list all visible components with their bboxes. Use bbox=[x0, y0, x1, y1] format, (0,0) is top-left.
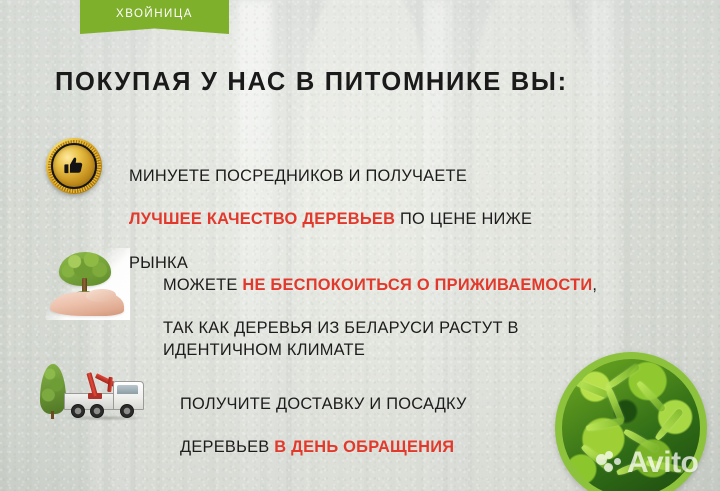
truck-wheel bbox=[71, 404, 85, 418]
benefit-line-plain: ДЕРЕВЬЕВ bbox=[180, 438, 274, 456]
brand-name-label: ХВОЙНИЦА bbox=[116, 0, 193, 21]
page-title: ПОКУПАЯ У НАС В ПИТОМНИКЕ ВЫ: bbox=[55, 70, 568, 96]
thuja-frond bbox=[580, 444, 614, 474]
benefit-line-plain: ПО ЦЕНЕ НИЖЕ bbox=[395, 210, 532, 228]
promo-poster: ХВОЙНИЦА ПОКУПАЯ У НАС В ПИТОМНИКЕ ВЫ: М… bbox=[0, 0, 720, 491]
hand-thumb bbox=[86, 289, 116, 302]
benefit-highlight: ЛУЧШЕЕ КАЧЕСТВО ДЕРЕВЬЕВ bbox=[129, 210, 395, 228]
thuja-frond bbox=[646, 459, 685, 474]
thuja-frond bbox=[623, 428, 659, 453]
benefit-highlight: НЕ БЕСПОКОИТЬСЯ О ПРИЖИВАЕМОСТИ bbox=[242, 276, 592, 294]
benefit-text: ПОЛУЧИТЕ ДОСТАВКУ И ПОСАДКУ ДЕРЕВЬЕВ В Д… bbox=[180, 372, 580, 459]
thuja-circle-photo bbox=[555, 352, 707, 491]
truck-scene bbox=[38, 358, 150, 422]
medal-outer-ring bbox=[46, 138, 102, 194]
thuja-frond bbox=[636, 380, 667, 413]
benefit-row: МОЖЕТЕ НЕ БЕСПОКОИТЬСЯ О ПРИЖИВАЕМОСТИ, … bbox=[46, 248, 663, 362]
thuja-frond bbox=[654, 408, 684, 442]
crane-hook-arm bbox=[107, 377, 113, 392]
crane-truck-with-conifer-icon bbox=[38, 358, 150, 422]
thumbs-up-glyph bbox=[63, 155, 85, 177]
benefit-line-plain: МИНУЕТЕ ПОСРЕДНИКОВ И ПОЛУЧАЕТЕ bbox=[129, 167, 467, 185]
thuja-photo-content bbox=[562, 359, 700, 491]
medal-inner-disc bbox=[51, 143, 97, 189]
benefit-row: ПОЛУЧИТЕ ДОСТАВКУ И ПОСАДКУ ДЕРЕВЬЕВ В Д… bbox=[38, 358, 580, 459]
gold-thumbs-up-medal-icon bbox=[46, 138, 102, 194]
benefit-line-plain: МОЖЕТЕ bbox=[163, 276, 242, 294]
thuja-frond bbox=[572, 378, 610, 399]
truck-wheel bbox=[120, 404, 134, 418]
benefit-line-plain: ПОЛУЧИТЕ ДОСТАВКУ И ПОСАДКУ bbox=[180, 395, 467, 413]
benefit-line-plain: ТАК КАК ДЕРЕВЬЯ ИЗ БЕЛАРУСИ РАСТУТ В ИДЕ… bbox=[163, 319, 519, 359]
hand-tree-scene bbox=[46, 248, 130, 320]
benefit-line-plain: , bbox=[592, 276, 597, 294]
conifer-tree bbox=[40, 364, 66, 414]
benefit-highlight: В ДЕНЬ ОБРАЩЕНИЯ bbox=[274, 438, 454, 456]
conifer-trunk bbox=[51, 411, 54, 419]
truck-wheel bbox=[90, 404, 104, 418]
benefit-text: МОЖЕТЕ НЕ БЕСПОКОИТЬСЯ О ПРИЖИВАЕМОСТИ, … bbox=[163, 253, 663, 362]
hand-holding-tree-icon bbox=[46, 248, 130, 320]
truck-window bbox=[117, 385, 138, 394]
